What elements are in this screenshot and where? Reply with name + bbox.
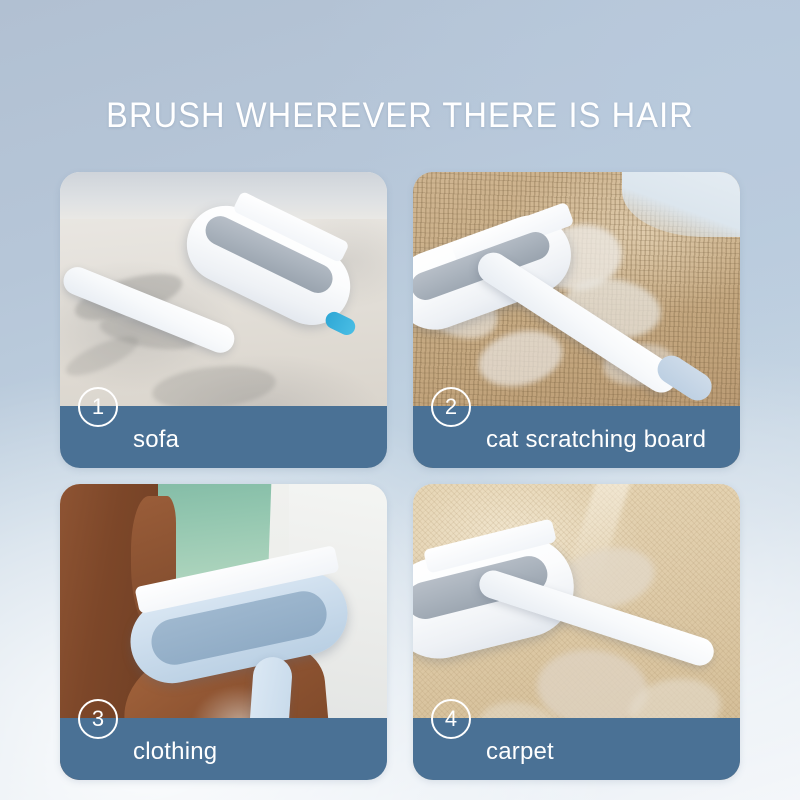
scenario-card-carpet[interactable]: 4 carpet (413, 484, 740, 780)
caption-label-cat-scratching-board: cat scratching board (486, 426, 706, 454)
scenario-card-cat-scratching-board[interactable]: 2 cat scratching board (413, 172, 740, 468)
caption-bar-sofa: 1 sofa (60, 406, 387, 468)
usage-scenario-grid: 1 sofa 2 (60, 172, 740, 780)
scenario-card-sofa[interactable]: 1 sofa (60, 172, 387, 468)
step-badge-2: 2 (431, 387, 471, 427)
caption-bar-clothing: 3 clothing (60, 718, 387, 780)
caption-bar-carpet: 4 carpet (413, 718, 740, 780)
pet-hair-brush (165, 219, 387, 403)
fur-clump (62, 329, 143, 383)
caption-bar-cat-scratching-board: 2 cat scratching board (413, 406, 740, 468)
step-badge-4: 4 (431, 699, 471, 739)
caption-label-sofa: sofa (133, 426, 179, 454)
brush-teal-accent (323, 309, 358, 337)
promo-poster: BRUSH WHEREVER THERE IS HAIR (0, 0, 800, 800)
page-title: BRUSH WHEREVER THERE IS HAIR (28, 95, 772, 137)
step-badge-1: 1 (78, 387, 118, 427)
brush-handle-tip (652, 350, 717, 406)
scenario-card-clothing[interactable]: 3 clothing (60, 484, 387, 780)
caption-label-carpet: carpet (486, 738, 554, 766)
brush-handle (472, 247, 682, 398)
step-badge-3: 3 (78, 699, 118, 739)
caption-label-clothing: clothing (133, 738, 217, 766)
